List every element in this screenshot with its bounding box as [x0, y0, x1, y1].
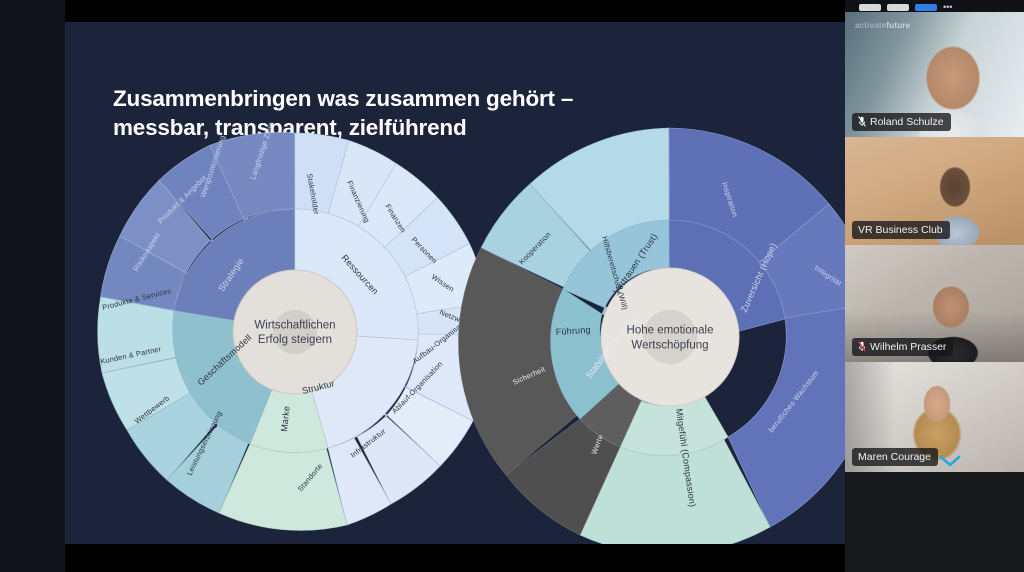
toolbar-chip-1[interactable] — [859, 4, 881, 11]
participant-tile-vr-business-club[interactable]: VR Business Club — [845, 137, 1024, 245]
overlay-brand-logo: activatefuture — [855, 21, 910, 30]
participant-nameplate: Wilhelm Prasser — [852, 338, 953, 356]
toolbar-more-dots[interactable]: ••• — [943, 4, 952, 11]
participant-tile-wilhelm-prasser[interactable]: Wilhelm Prasser — [845, 245, 1024, 362]
presentation-slide: Zusammenbringen was zusammen gehört – me… — [65, 22, 845, 544]
collapse-strip-button[interactable] — [938, 454, 962, 468]
hub-label-line: Wertschöpfung — [631, 340, 708, 352]
participant-name: Roland Schulze — [870, 116, 944, 128]
mic-muted-icon — [858, 116, 866, 127]
participant-name: VR Business Club — [858, 224, 943, 236]
chevron-down-icon[interactable] — [938, 454, 962, 468]
left-sunburst-hub-inner — [273, 310, 317, 354]
participant-tile-maren-courage[interactable]: Maren Courage — [845, 362, 1024, 472]
toolbar-chip-active[interactable] — [915, 4, 937, 11]
right-sunburst-chart: Kooperation Hilfsbereitschaft (Will) Ins… — [470, 137, 845, 537]
participant-nameplate: Maren Courage — [852, 448, 938, 466]
hub-label-line: Erfolg steigern — [258, 334, 332, 346]
brand-suffix: future — [886, 21, 910, 30]
right-sunburst-hub-inner — [643, 310, 697, 364]
participant-nameplate: Roland Schulze — [852, 113, 951, 131]
video-call-window: Zusammenbringen was zusammen gehört – me… — [0, 0, 1024, 572]
window-toolbar[interactable]: ••• — [845, 0, 1024, 12]
shared-screen-region[interactable]: Zusammenbringen was zusammen gehört – me… — [0, 0, 845, 572]
hub-label-line: Hohe emotionale — [627, 325, 714, 337]
brand-prefix: activate — [855, 21, 886, 30]
participant-name: Maren Courage — [858, 451, 931, 463]
participant-tile-roland-schulze[interactable]: activatefuture Roland Schulze — [845, 12, 1024, 137]
participant-video-strip[interactable]: activatefuture Roland Schulze VR Busines… — [845, 0, 1024, 572]
hub-label-line: Wirtschaftlichen — [254, 320, 335, 332]
mic-muted-icon — [858, 341, 866, 352]
participant-nameplate: VR Business Club — [852, 221, 950, 239]
participant-name: Wilhelm Prasser — [870, 341, 946, 353]
toolbar-chip-2[interactable] — [887, 4, 909, 11]
strip-bottom-area — [845, 472, 1024, 572]
left-sunburst-chart: Risikoaspekt Produkt & Angebot Wertposit… — [95, 132, 495, 532]
